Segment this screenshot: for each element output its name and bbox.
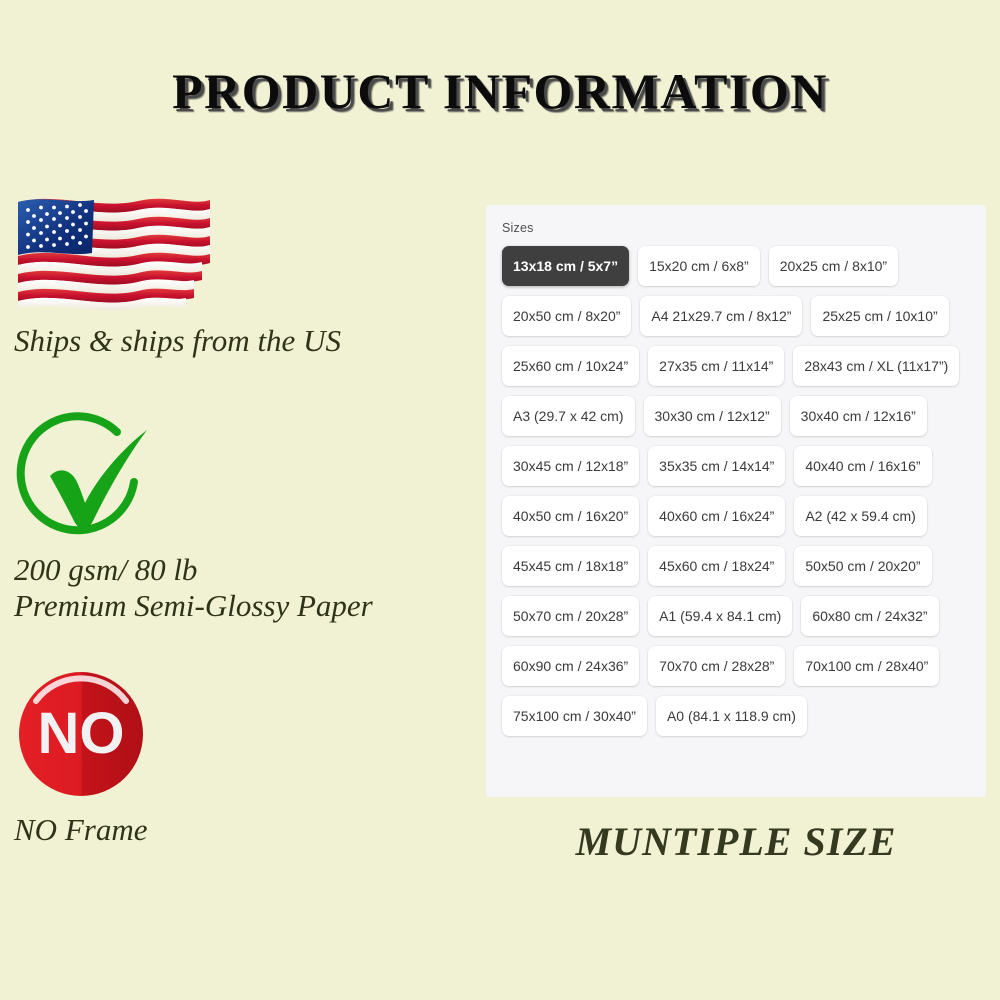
size-option-list: 13x18 cm / 5x7”15x20 cm / 6x8”20x25 cm /… [502, 246, 972, 736]
feature-caption-ships: Ships & ships from the US [14, 323, 474, 360]
size-option-chip[interactable]: A0 (84.1 x 118.9 cm) [656, 696, 807, 736]
size-option-chip[interactable]: A4 21x29.7 cm / 8x12” [640, 296, 802, 336]
size-option-chip[interactable]: 20x50 cm / 8x20” [502, 296, 631, 336]
feature-caption-paper: 200 gsm/ 80 lb Premium Semi-Glossy Paper [14, 552, 474, 625]
no-badge-text: NO [38, 701, 125, 766]
size-option-chip[interactable]: 30x40 cm / 12x16” [790, 396, 927, 436]
size-option-chip[interactable]: A1 (59.4 x 84.1 cm) [648, 596, 792, 636]
page-title: PRODUCT INFORMATION [0, 62, 1000, 120]
size-option-chip[interactable]: 60x80 cm / 24x32” [801, 596, 938, 636]
size-option-chip[interactable]: 50x70 cm / 20x28” [502, 596, 639, 636]
size-option-chip[interactable]: 28x43 cm / XL (11x17”) [793, 346, 959, 386]
size-option-chip[interactable]: 30x30 cm / 12x12” [644, 396, 781, 436]
size-option-chip[interactable]: 60x90 cm / 24x36” [502, 646, 639, 686]
size-option-chip[interactable]: A2 (42 x 59.4 cm) [794, 496, 927, 536]
size-option-chip[interactable]: 40x40 cm / 16x16” [794, 446, 931, 486]
size-option-chip[interactable]: A3 (29.7 x 42 cm) [502, 396, 635, 436]
size-option-chip[interactable]: 75x100 cm / 30x40” [502, 696, 647, 736]
paper-type-line: Premium Semi-Glossy Paper [14, 588, 474, 625]
size-option-chip[interactable]: 40x60 cm / 16x24” [648, 496, 785, 536]
paper-weight-line: 200 gsm/ 80 lb [14, 552, 474, 589]
size-option-chip[interactable]: 40x50 cm / 16x20” [502, 496, 639, 536]
sizes-label: Sizes [502, 221, 972, 235]
size-option-chip[interactable]: 50x50 cm / 20x20” [794, 546, 931, 586]
size-option-chip[interactable]: 35x35 cm / 14x14” [648, 446, 785, 486]
size-option-chip[interactable]: 25x25 cm / 10x10” [811, 296, 948, 336]
size-option-chip[interactable]: 45x60 cm / 18x24” [648, 546, 785, 586]
multiple-size-caption: MUNTIPLE SIZE [486, 818, 986, 865]
size-option-chip[interactable]: 13x18 cm / 5x7” [502, 246, 629, 286]
size-option-chip[interactable]: 70x100 cm / 28x40” [794, 646, 939, 686]
green-check-icon [14, 404, 159, 544]
size-option-chip[interactable]: 27x35 cm / 11x14” [648, 346, 784, 386]
size-option-chip[interactable]: 20x25 cm / 8x10” [769, 246, 898, 286]
feature-caption-no-frame: NO Frame [14, 812, 474, 849]
feature-ships-from-us: Ships & ships from the US [14, 190, 474, 360]
size-option-chip[interactable]: 15x20 cm / 6x8” [638, 246, 760, 286]
feature-list: Ships & ships from the US 200 gsm/ 80 lb… [14, 190, 474, 874]
size-option-chip[interactable]: 45x45 cm / 18x18” [502, 546, 639, 586]
feature-no-frame: NO NO Frame [14, 669, 474, 849]
sizes-panel: Sizes 13x18 cm / 5x7”15x20 cm / 6x8”20x2… [486, 205, 986, 797]
no-badge-icon: NO [14, 669, 149, 804]
feature-paper-weight: 200 gsm/ 80 lb Premium Semi-Glossy Paper [14, 404, 474, 625]
size-option-chip[interactable]: 25x60 cm / 10x24” [502, 346, 639, 386]
size-option-chip[interactable]: 70x70 cm / 28x28” [648, 646, 785, 686]
us-flag-icon [14, 190, 214, 315]
size-option-chip[interactable]: 30x45 cm / 12x18” [502, 446, 639, 486]
